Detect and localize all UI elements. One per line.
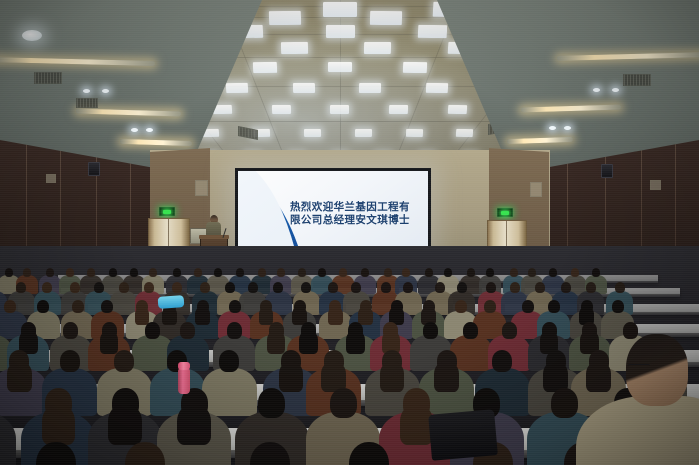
attendee-head [402,268,410,277]
attendee-head [200,282,210,293]
attendee-head [214,268,222,277]
attendee-head [486,282,496,293]
audience-area [0,246,699,465]
attendee-head [219,350,239,372]
attendee-head [455,300,467,313]
projection-screen: 热烈欢迎华兰基因工程有 限公司总经理安文琪博士 [238,171,428,255]
wall-plate-front-left [195,180,208,196]
attendee-head [623,322,638,339]
attendee-head [114,350,134,372]
attendee-head [180,322,195,339]
attendee-head [248,282,258,293]
attendee-body [202,368,257,416]
foreground-attendee-head [626,334,688,406]
attendee-head [277,268,285,277]
backpack [428,409,498,461]
attendee-head [484,300,496,313]
attendee-head [101,300,113,313]
slide-text: 热烈欢迎华兰基因工程有 限公司总经理安文琪博士 [290,201,426,227]
attendee-head [94,282,104,293]
attendee-head [273,282,283,293]
attendee-head [119,282,129,293]
attendee-head [571,268,579,277]
slide-text-line-2: 限公司总经理安文琪博士 [290,214,426,227]
cove-light-right-1 [557,52,699,61]
attendee-hair [108,405,142,446]
attendee-head [149,268,157,277]
attendee-head [444,268,452,277]
cove-light-left-1 [0,57,155,66]
attendee-hair [162,307,177,325]
attendee-head [549,268,557,277]
attendee-head [425,268,433,277]
spot-light-left-2 [102,89,109,93]
attendee-head [145,322,160,339]
attendee-hair [586,362,611,392]
attendee-head [435,282,445,293]
attendee-head [16,282,26,293]
attendee-head [586,282,596,293]
attendee-head [229,300,241,313]
attendee-head [467,268,475,277]
water-bottle [178,368,190,394]
wall-control-panel-right[interactable] [650,180,661,190]
cove-light-right-3 [507,137,573,144]
attendee-head [318,268,326,277]
face-mask-object [158,295,185,309]
attendee-head [130,268,138,277]
attendee-head [60,350,80,372]
attendee-head [339,268,347,277]
soffit-vent-left-2 [76,98,98,108]
attendee-head [298,268,306,277]
attendee-head [66,268,74,277]
attendee-head [486,268,494,277]
exit-sign-left-glyph [163,210,171,214]
attendee-head [258,388,285,418]
attendee-head [109,268,117,277]
wall-plate-front-right [530,182,542,197]
exit-sign-right-glyph [501,211,509,215]
spot-light-right-2 [593,88,600,92]
attendee-head [463,322,478,339]
attendee-head [236,268,244,277]
attendee-hair [177,405,211,446]
cove-light-right-2 [521,105,621,113]
attendee-hair [434,362,459,392]
attendee-head [612,300,624,313]
attendee-head [528,268,536,277]
attendee-hair [195,307,210,325]
attendee-head [615,282,625,293]
attendee-head [63,322,78,339]
soffit-vent-left [34,72,62,84]
attendee-hair [267,331,286,354]
attendee-head [548,300,560,313]
attendee-head [328,282,338,293]
projection-screen-frame: 热烈欢迎华兰基因工程有 限公司总经理安文琪博士 [235,168,431,258]
attendee-head [384,268,392,277]
attendee-head [561,282,571,293]
attendee-head [194,268,202,277]
attendee-hair [299,331,318,354]
wall-control-panel-left[interactable] [46,174,56,183]
attendee-head [522,300,534,313]
attendee-head [301,282,311,293]
lecture-hall-photo: 热烈欢迎华兰基因工程有 限公司总经理安文琪博士 [0,0,699,465]
spot-light-right-3 [564,126,571,130]
attendee-head [227,322,242,339]
attendee-head [457,282,467,293]
attendee-head [510,268,518,277]
slide-text-line-1: 热烈欢迎华兰基因工程有 [290,201,426,214]
wall-speaker-left [88,162,100,176]
attendee-hair [42,405,76,446]
attendee-head [551,388,578,418]
cove-light-left-2 [76,109,181,117]
attendee-hair [380,362,405,392]
spot-light-left-1 [83,89,90,93]
exit-sign-right [497,208,513,217]
downlight-icon [22,30,42,41]
attendee-head [42,282,52,293]
attendee-head [172,282,182,293]
wall-speaker-right [601,164,613,178]
attendee-head [23,268,31,277]
attendee-head [330,388,357,418]
attendee-head [592,268,600,277]
cove-light-left-3 [120,139,192,146]
attendee-hair [279,362,304,392]
spot-light-right-4 [549,126,556,130]
attendee-head [46,268,54,277]
spot-light-left-3 [131,128,138,132]
attendee-body [0,412,16,465]
attendee-head [225,282,235,293]
attendee-head [70,282,80,293]
attendee-hair [358,307,373,325]
attendee-head [72,300,84,313]
attendee-head [351,282,361,293]
attendee-head [535,282,545,293]
attendee-head [37,300,49,313]
exit-sign-left [159,207,175,216]
attendee-head [258,268,266,277]
attendee-head [5,268,13,277]
attendee-head [4,300,16,313]
attendee-head [361,268,369,277]
eyeglasses-icon [628,364,650,369]
attendee-head [144,282,154,293]
attendee-head [173,268,181,277]
attendee-hair [346,331,365,354]
attendee-head [403,282,413,293]
attendee-hair [100,331,119,354]
attendee-head [502,322,517,339]
attendee-head [492,350,512,372]
attendee-hair [328,307,343,325]
attendee-head [510,282,520,293]
attendee-hair [7,362,32,392]
soffit-vent-right [623,74,651,86]
spot-light-left-4 [146,128,153,132]
spot-light-right-1 [612,88,619,92]
attendee-head [381,282,391,293]
attendee-head [87,268,95,277]
attendee-head [423,322,438,339]
